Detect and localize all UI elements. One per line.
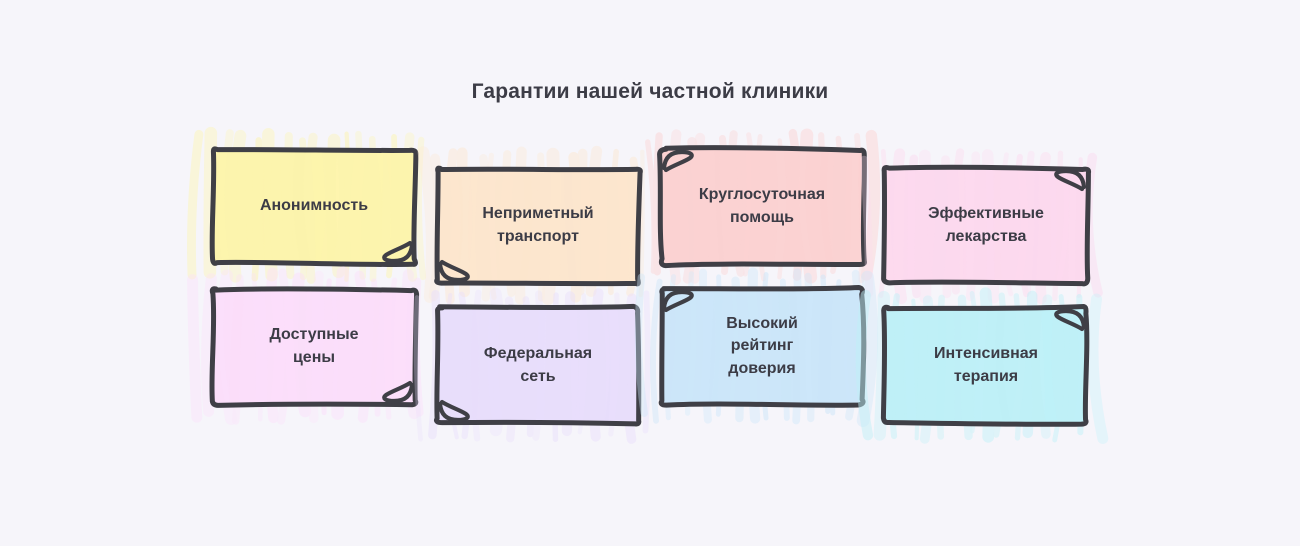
feature-card-discreet-transport[interactable]: Неприметныйтранспорт — [436, 167, 640, 284]
card-sketch-shape — [212, 148, 416, 265]
feature-card-federal-network[interactable]: Федеральнаясеть — [436, 307, 640, 424]
card-sketch-shape — [660, 148, 864, 265]
feature-card-anonymity[interactable]: Анонимность — [212, 148, 416, 265]
feature-card-intensive-therapy[interactable]: Интенсивнаятерапия — [884, 307, 1088, 424]
feature-card-round-the-clock-help[interactable]: Круглосуточнаяпомощь — [660, 148, 864, 265]
infographic-root: Гарантии нашей частной клиники Анонимнос… — [0, 0, 1300, 546]
card-sketch-shape — [436, 167, 640, 284]
feature-card-affordable-prices[interactable]: Доступныецены — [212, 288, 416, 405]
card-sketch-shape — [884, 307, 1088, 424]
card-grid: АнонимностьНеприметныйтранспортКруглосут… — [0, 0, 1300, 546]
card-sketch-shape — [660, 288, 864, 405]
card-sketch-shape — [436, 307, 640, 424]
card-sketch-shape — [884, 167, 1088, 284]
card-sketch-shape — [212, 288, 416, 405]
feature-card-effective-medicines[interactable]: Эффективныелекарства — [884, 167, 1088, 284]
feature-card-high-trust-rating[interactable]: Высокийрейтингдоверия — [660, 288, 864, 405]
